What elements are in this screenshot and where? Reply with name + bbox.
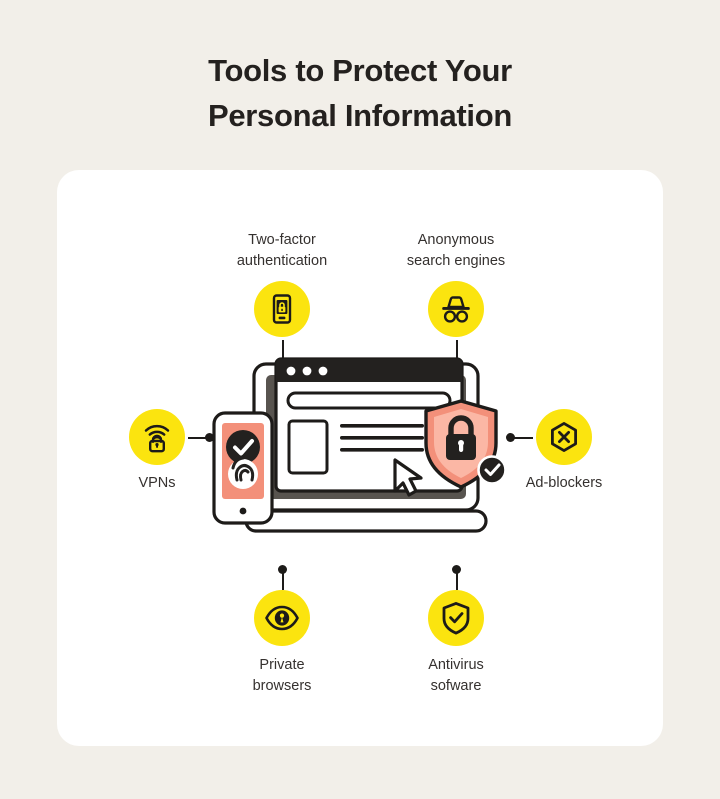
node-label-vpns: VPNs — [77, 473, 237, 494]
node-two-factor-authentication[interactable]: Two-factor authentication — [202, 230, 362, 337]
node-label-antivirus-software: Antivirus sofware — [376, 655, 536, 697]
badge-vpns[interactable] — [129, 409, 185, 465]
page-title-line-2: Personal Information — [0, 93, 720, 138]
node-vpns[interactable]: VPNs — [77, 409, 237, 494]
node-label-anonymous-search-engines: Anonymous search engines — [376, 230, 536, 272]
node-label-private-browsers: Private browsers — [202, 655, 362, 697]
badge-antivirus-software[interactable] — [428, 590, 484, 646]
incognito-hat-glasses-icon — [438, 294, 474, 324]
eye-keyhole-icon — [264, 605, 300, 631]
node-label-two-factor-authentication: Two-factor authentication — [202, 230, 362, 272]
badge-private-browsers[interactable] — [254, 590, 310, 646]
badge-two-factor-authentication[interactable] — [254, 281, 310, 337]
badge-anonymous-search-engines[interactable] — [428, 281, 484, 337]
shield-check-icon — [441, 601, 471, 635]
node-anonymous-search-engines[interactable]: Anonymous search engines — [376, 230, 536, 337]
node-ad-blockers[interactable]: Ad-blockers — [484, 409, 644, 494]
lock-wifi-icon — [140, 420, 174, 454]
badge-ad-blockers[interactable] — [536, 409, 592, 465]
connector-dot-private-browsers — [278, 565, 287, 574]
connector-dot-antivirus — [452, 565, 461, 574]
page-title-line-1: Tools to Protect Your — [0, 48, 720, 93]
hexagon-x-icon — [547, 420, 581, 454]
node-antivirus-software[interactable]: Antivirus sofware — [376, 590, 536, 697]
central-device-illustration — [190, 355, 530, 565]
phone-lock-icon — [265, 292, 299, 326]
node-private-browsers[interactable]: Private browsers — [202, 590, 362, 697]
node-label-ad-blockers: Ad-blockers — [484, 473, 644, 494]
page-title: Tools to Protect Your Personal Informati… — [0, 48, 720, 138]
